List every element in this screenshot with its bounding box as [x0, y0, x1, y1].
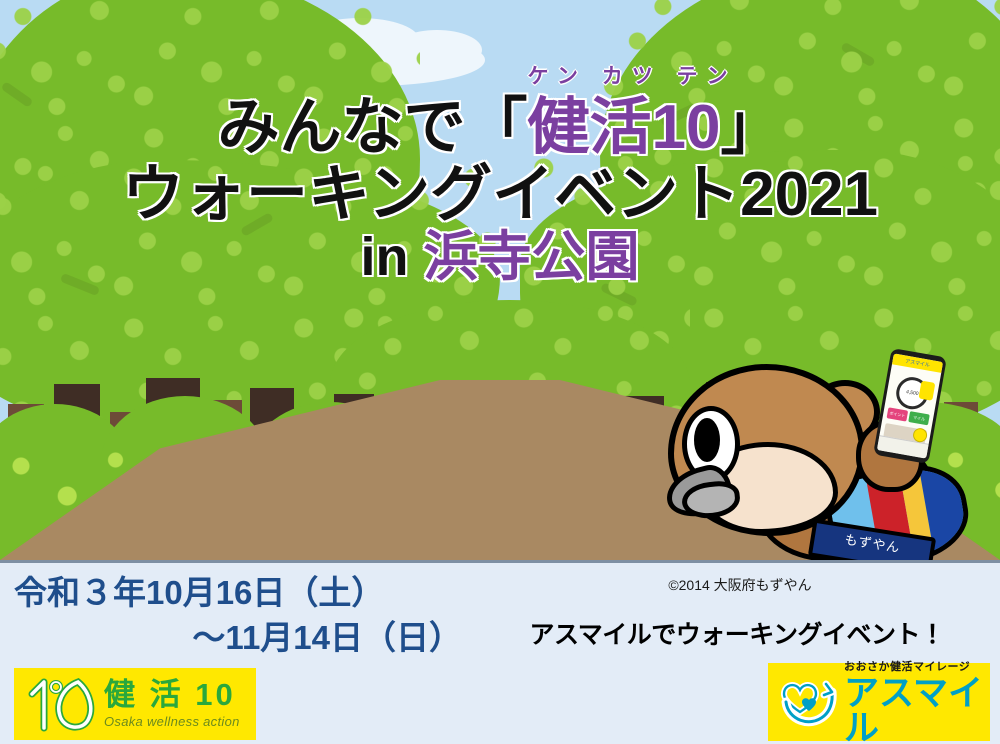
park-scene-illustration: もずやん アスマイル 4,500 ポイント マイル みんなで「ケン カツ テン健… — [0, 0, 1000, 560]
app-header: アスマイル — [892, 353, 943, 373]
asmile-main-text: アスマイル — [844, 676, 990, 744]
asmile-tagline: おおさか健活マイレージ — [844, 658, 990, 674]
copyright-notice: ©2014 大阪府もずやん — [560, 575, 920, 595]
kenkatsu10-tagline: Osaka wellness action — [104, 714, 240, 729]
miles-chip: マイル — [908, 411, 930, 425]
asmile-smile-heart-icon — [776, 674, 842, 730]
mascot-pupil — [694, 418, 720, 462]
avatar-tile — [918, 381, 935, 401]
event-poster: もずやん アスマイル 4,500 ポイント マイル みんなで「ケン カツ テン健… — [0, 0, 1000, 744]
event-slogan: アスマイルでウォーキングイベント！ — [482, 615, 992, 651]
smartphone: アスマイル 4,500 ポイント マイル — [873, 348, 947, 464]
event-date-start: 令和３年10月16日（土） — [14, 571, 474, 616]
event-dates: 令和３年10月16日（土） 〜11月14日（日） — [14, 571, 474, 660]
smartphone-screen: アスマイル 4,500 ポイント マイル — [877, 353, 943, 458]
kenkatsu10-wordmark: 健 活 10 Osaka wellness action — [104, 679, 240, 729]
asmile-logo: おおさか健活マイレージ アスマイル — [768, 663, 990, 741]
info-band: 令和３年10月16日（土） 〜11月14日（日） ©2014 大阪府もずやん ア… — [0, 560, 1000, 744]
points-chip: ポイント — [887, 407, 909, 421]
kenkatsu10-main-text: 健 活 10 — [104, 679, 240, 710]
event-date-end: 〜11月14日（日） — [14, 616, 474, 661]
kenkatsu10-logo: 健 活 10 Osaka wellness action — [14, 668, 256, 740]
asmile-wordmark: おおさか健活マイレージ アスマイル — [844, 658, 990, 744]
mascot-mozuyan: もずやん アスマイル 4,500 ポイント マイル — [660, 350, 970, 560]
kenkatsu10-mark-icon — [22, 674, 100, 734]
